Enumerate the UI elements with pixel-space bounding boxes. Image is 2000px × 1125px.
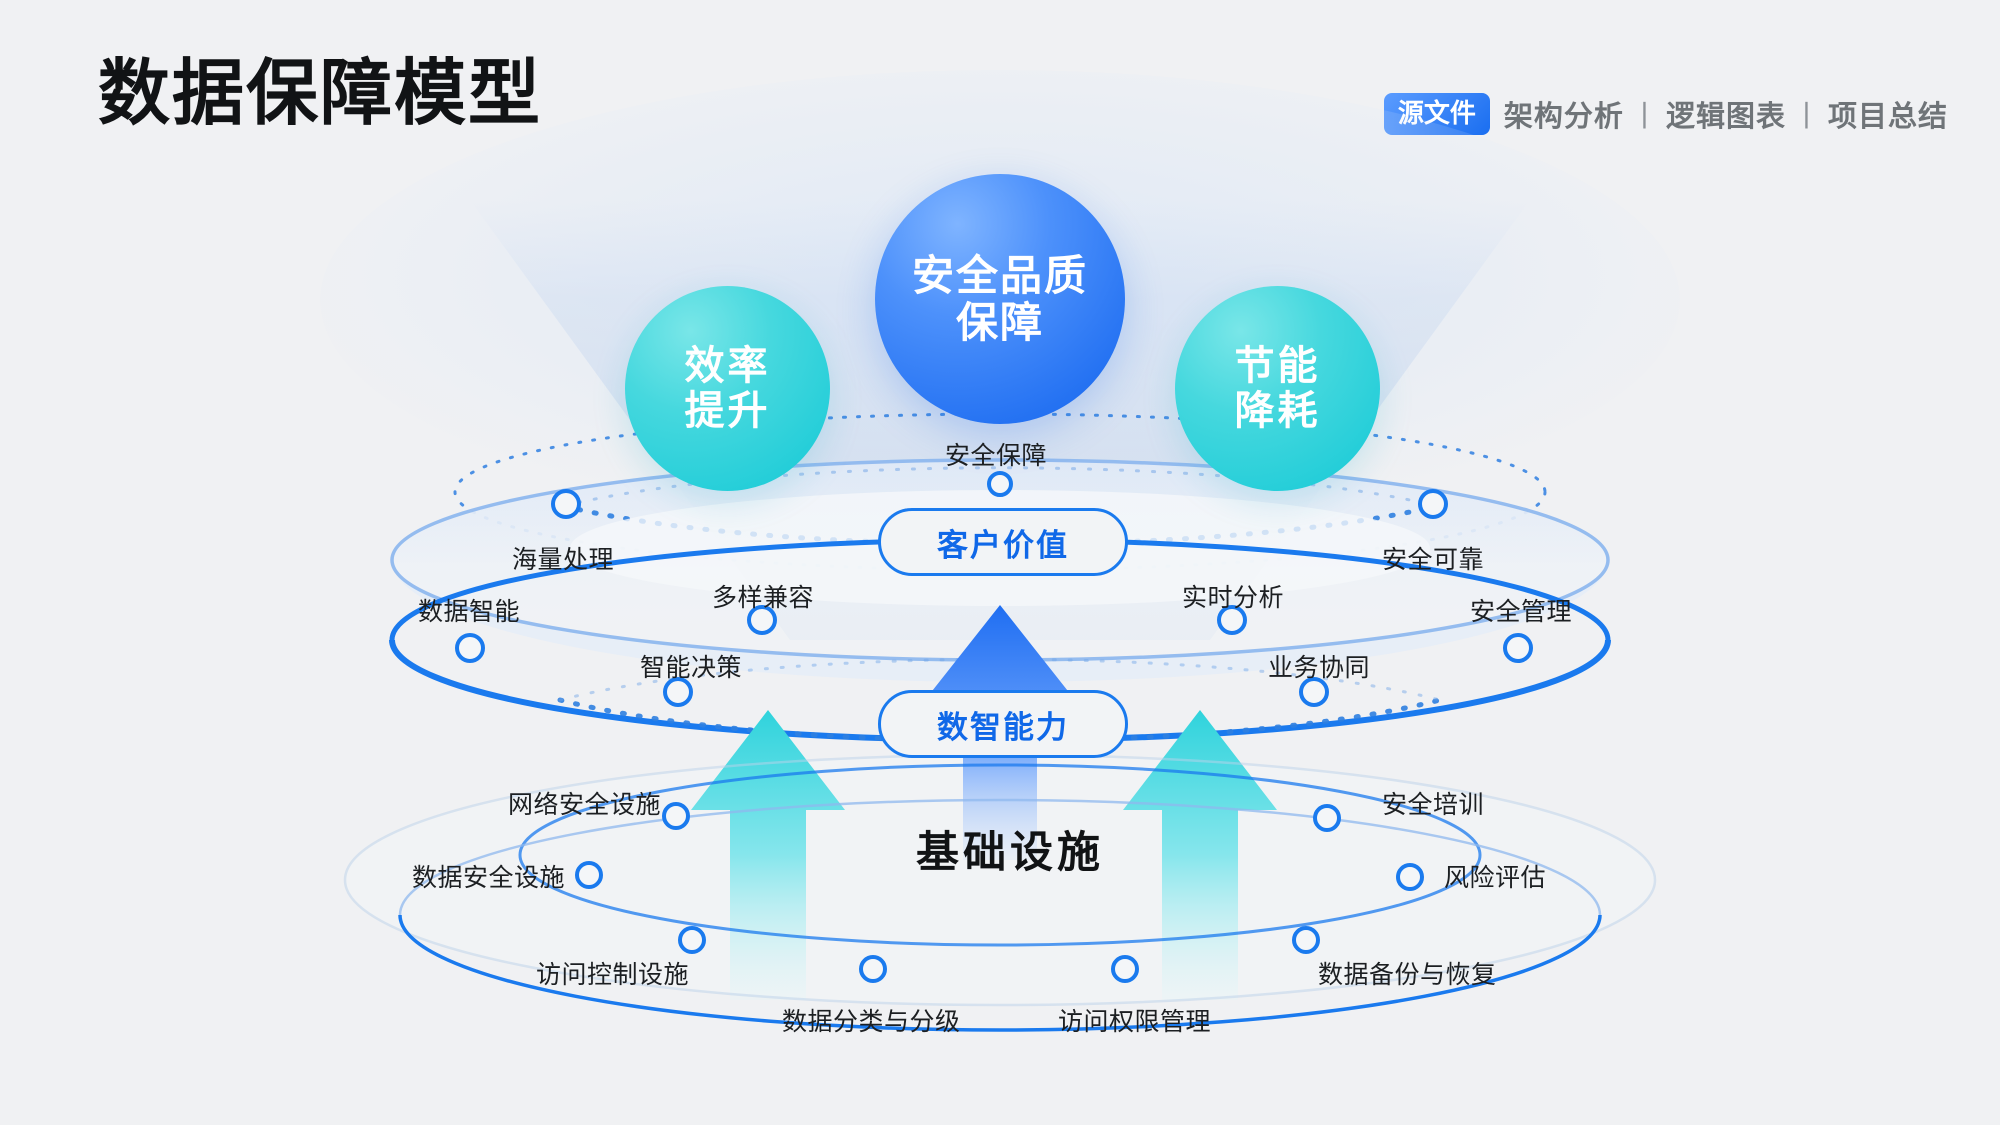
slide-canvas: 数据保障模型 源文件 架构分析丨逻辑图表丨项目总结 [0, 0, 2000, 1125]
pill-digital-ability[interactable]: 数智能力 [878, 690, 1128, 758]
dot-data-intelligence[interactable] [457, 635, 483, 661]
dot-access-control-facility[interactable] [680, 928, 704, 952]
dot-security-management[interactable] [1505, 635, 1531, 661]
label-access-permission-management: 访问权限管理 [1058, 1002, 1211, 1038]
dot-data-security-facility[interactable] [577, 863, 601, 887]
dot-security-training[interactable] [1315, 806, 1339, 830]
dot-security-assurance[interactable] [989, 473, 1011, 495]
dot-network-security-facility[interactable] [664, 804, 688, 828]
dot-safe-reliable[interactable] [1420, 491, 1446, 517]
dot-data-backup-recovery[interactable] [1294, 928, 1318, 952]
dot-access-permission-management[interactable] [1113, 957, 1137, 981]
label-safe-reliable: 安全可靠 [1382, 540, 1484, 576]
dot-risk-assessment[interactable] [1398, 865, 1422, 889]
label-diverse-compatibility: 多样兼容 [712, 578, 814, 614]
sphere-security-quality[interactable]: 安全品质 保障 [875, 174, 1125, 424]
label-data-intelligence: 数据智能 [418, 592, 520, 628]
label-risk-assessment: 风险评估 [1444, 858, 1546, 894]
label-network-security-facility: 网络安全设施 [508, 785, 661, 821]
label-security-management: 安全管理 [1470, 592, 1572, 628]
infrastructure-title: 基础设施 [916, 818, 1104, 880]
label-data-backup-recovery: 数据备份与恢复 [1318, 955, 1497, 991]
dot-data-classification[interactable] [861, 957, 885, 981]
label-access-control-facility: 访问控制设施 [536, 955, 689, 991]
sphere-efficiency[interactable]: 效率 提升 [625, 286, 830, 491]
label-security-training: 安全培训 [1382, 785, 1484, 821]
label-realtime-analysis: 实时分析 [1182, 578, 1284, 614]
label-business-collaboration: 业务协同 [1268, 648, 1370, 684]
label-data-classification: 数据分类与分级 [782, 1002, 961, 1038]
dot-massive-processing[interactable] [553, 491, 579, 517]
label-massive-processing: 海量处理 [512, 540, 614, 576]
label-security-assurance: 安全保障 [945, 436, 1047, 472]
label-intelligent-decision: 智能决策 [640, 648, 742, 684]
label-data-security-facility: 数据安全设施 [412, 858, 565, 894]
sphere-energy-saving[interactable]: 节能 降耗 [1175, 286, 1380, 491]
pill-customer-value[interactable]: 客户价值 [878, 508, 1128, 576]
